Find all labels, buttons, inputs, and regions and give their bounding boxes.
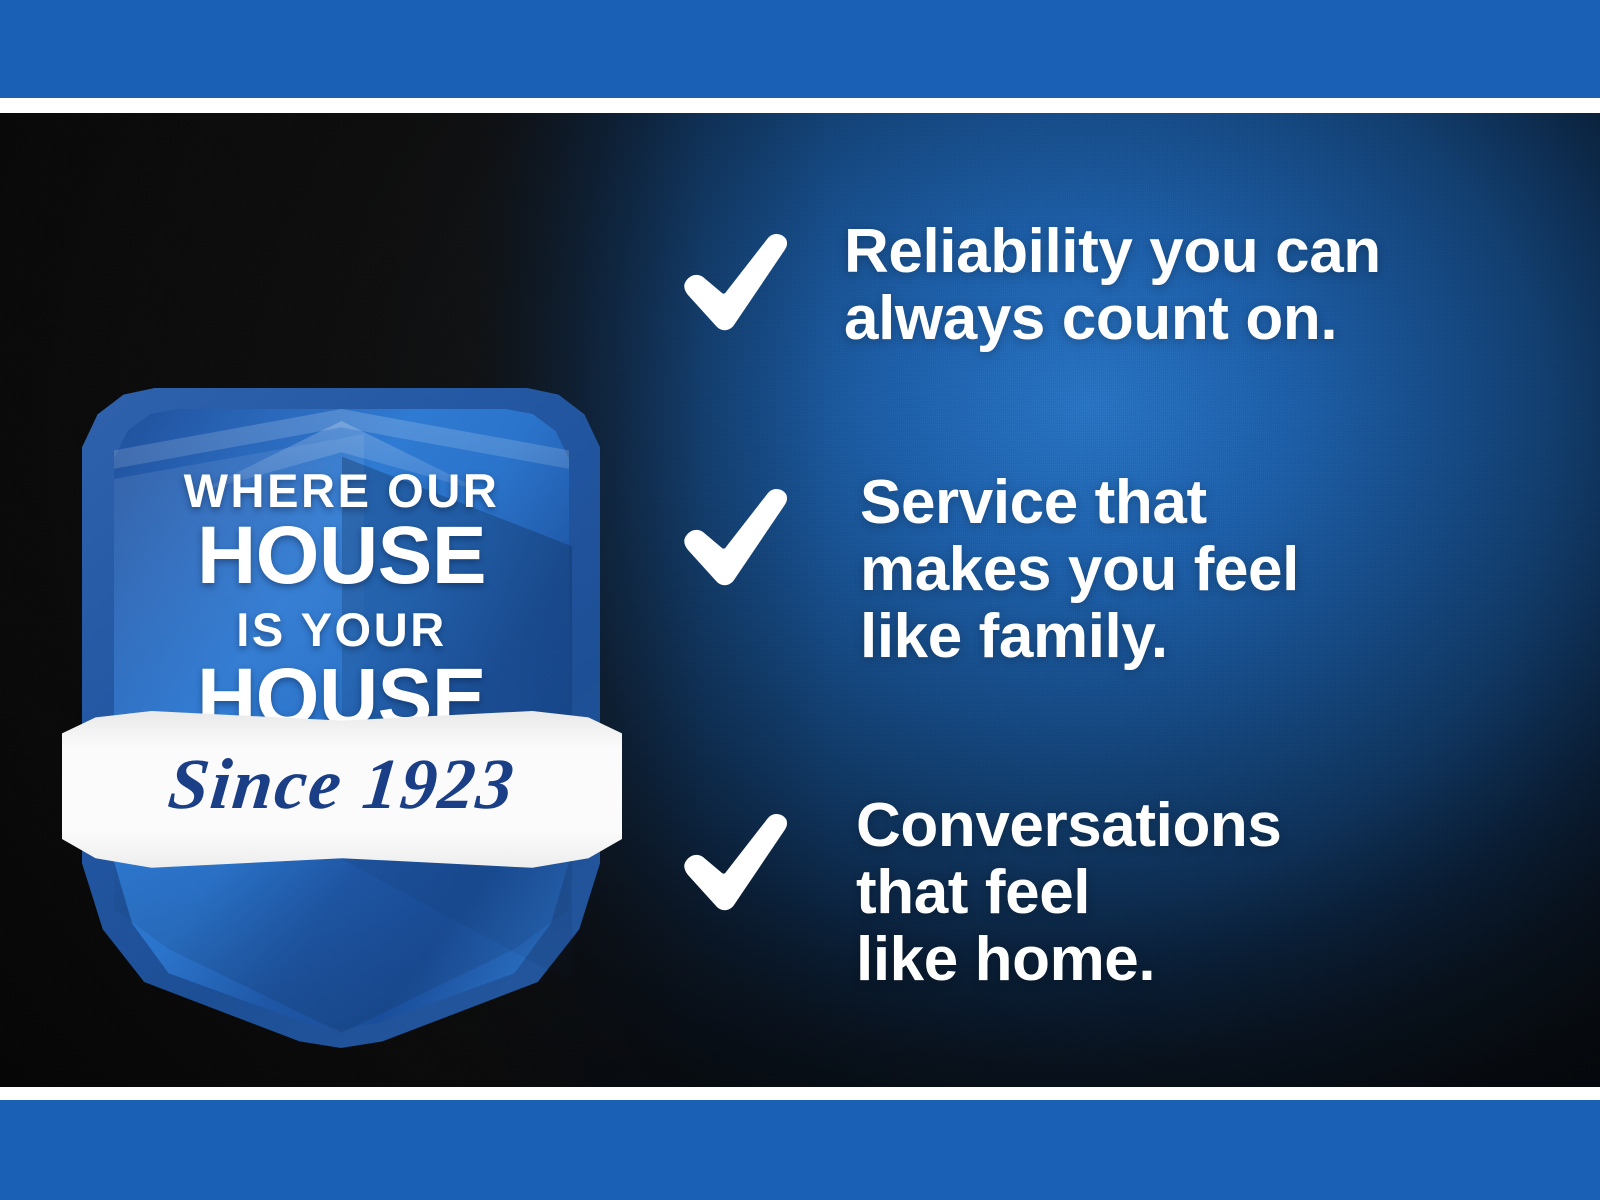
- checklist-text-1: Reliability you can always count on.: [844, 219, 1381, 353]
- promo-poster: WHERE OUR HOUSE IS YOUR HOUSE Since 1923…: [0, 0, 1600, 1200]
- shield-headline: WHERE OUR HOUSE IS YOUR HOUSE: [114, 469, 569, 736]
- checklist-text-2: Service that makes you feel like family.: [860, 470, 1299, 671]
- shield-line-where-our: WHERE OUR: [114, 469, 569, 513]
- shield-badge: WHERE OUR HOUSE IS YOUR HOUSE Since 1923: [62, 273, 622, 1063]
- shield-ribbon-text: Since 1923: [58, 743, 627, 826]
- bottom-brand-bar: [0, 1100, 1600, 1200]
- checklist-item-2: Service that makes you feel like family.: [670, 468, 1299, 671]
- shield-line-is-your: IS YOUR: [114, 608, 569, 652]
- checkmark-icon: [670, 472, 800, 602]
- checklist-item-1: Reliability you can always count on.: [670, 213, 1381, 353]
- top-brand-bar: [0, 0, 1600, 98]
- checkmark-icon: [670, 797, 800, 927]
- checklist-text-3: Conversations that feel like home.: [856, 793, 1281, 994]
- benefits-checklist: Reliability you can always count on. Ser…: [660, 113, 1560, 1087]
- shield-line-house-1: HOUSE: [114, 518, 569, 594]
- main-panel: WHERE OUR HOUSE IS YOUR HOUSE Since 1923…: [0, 113, 1600, 1087]
- checklist-item-3: Conversations that feel like home.: [670, 793, 1281, 994]
- checkmark-icon: [670, 217, 800, 347]
